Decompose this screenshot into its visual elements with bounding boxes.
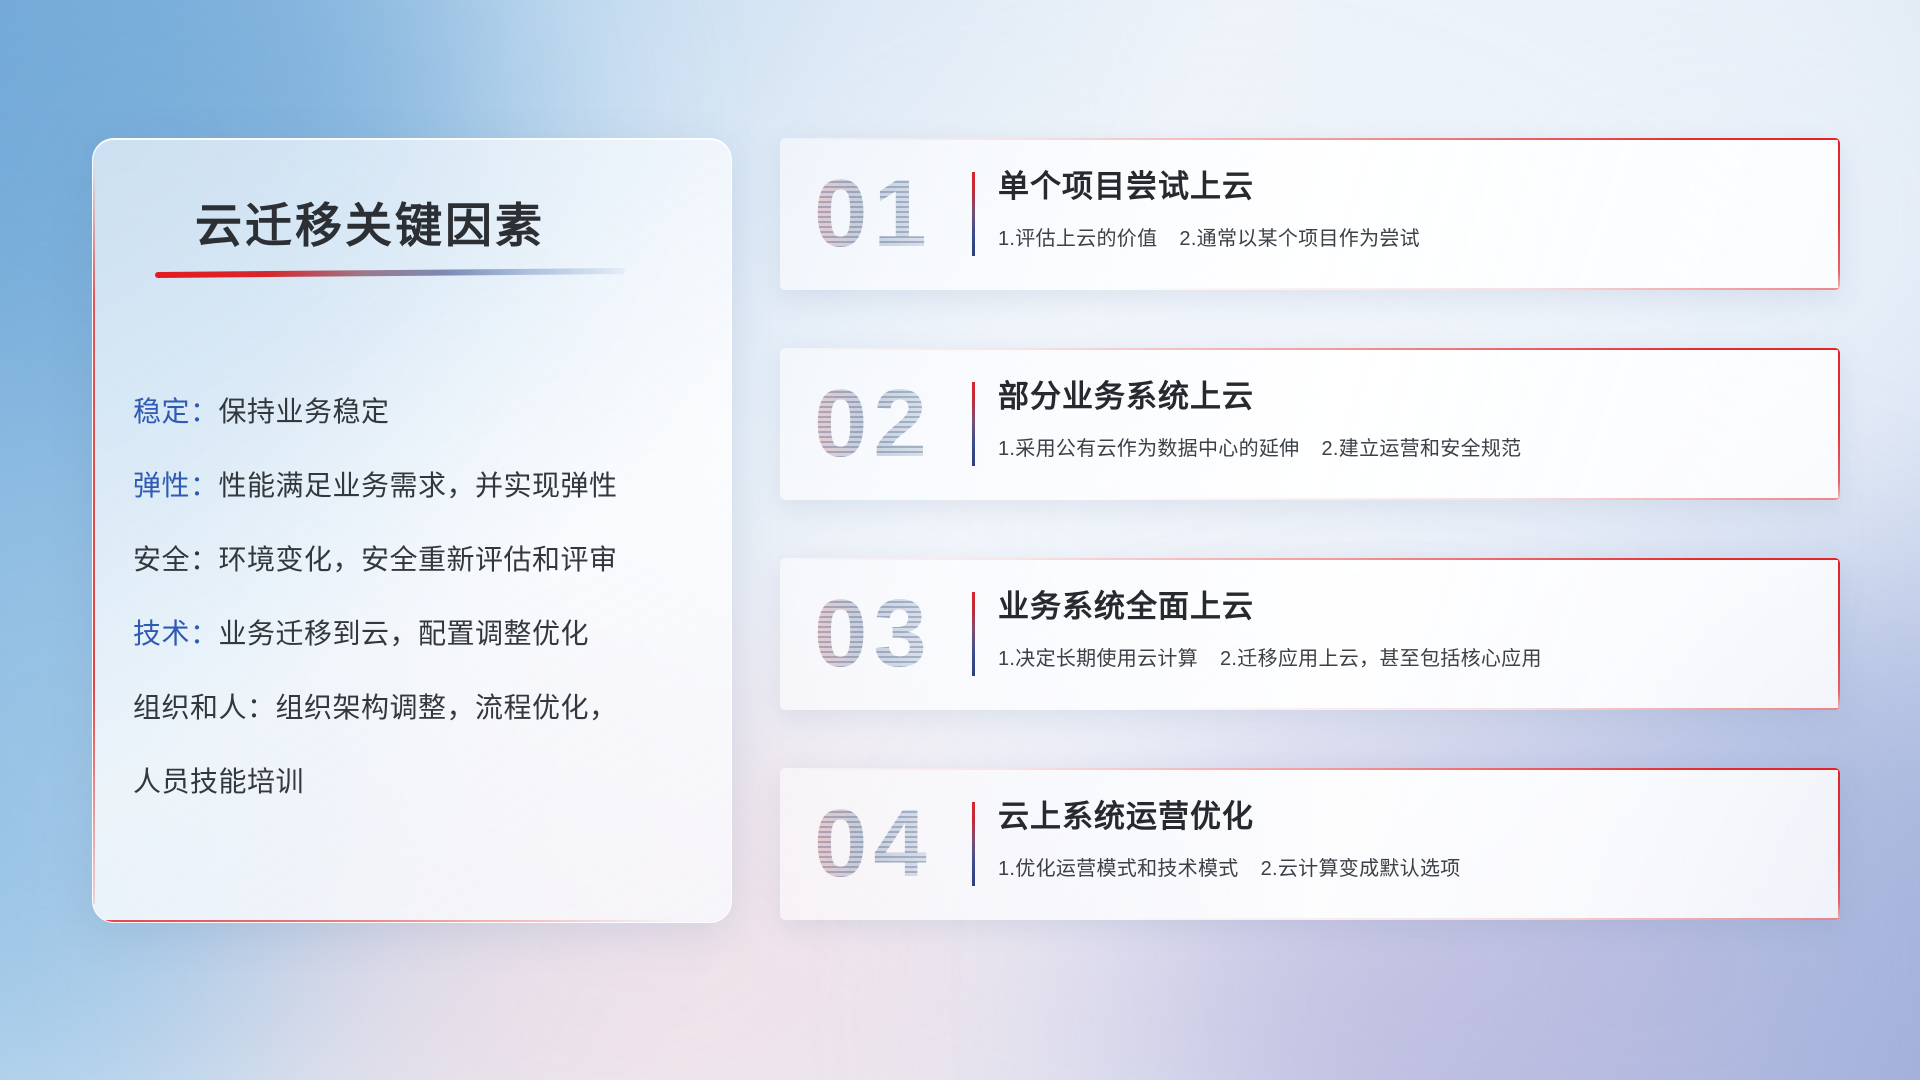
stage-title: 业务系统全面上云	[998, 586, 1814, 628]
factor-text: 保持业务稳定	[219, 396, 390, 427]
factor-item-technology: 技术：业务迁移到云，配置调整优化	[133, 597, 705, 671]
page-title: 云迁移关键因素	[195, 187, 545, 256]
card-body: 业务系统全面上云 1.决定长期使用云计算2.迁移应用上云，甚至包括核心应用	[998, 586, 1814, 671]
card-top-accent-line	[780, 348, 1840, 350]
factor-text: 性能满足业务需求，并实现弹性	[219, 470, 618, 501]
stage-card-04[interactable]: 04 云上系统运营优化 1.优化运营模式和技术模式2.云计算变成默认选项	[780, 768, 1840, 920]
stage-card-03[interactable]: 03 业务系统全面上云 1.决定长期使用云计算2.迁移应用上云，甚至包括核心应用	[780, 558, 1840, 710]
stage-point-1: 1.评估上云的价值	[998, 228, 1157, 250]
stage-point-2: 2.建立运营和安全规范	[1321, 438, 1521, 460]
card-bottom-accent-line	[780, 498, 1840, 500]
card-divider-bar	[972, 802, 975, 886]
card-right-accent-line	[1838, 558, 1840, 710]
factor-item-stability: 稳定：保持业务稳定	[133, 375, 705, 449]
factor-text: 业务迁移到云，配置调整优化	[219, 618, 590, 649]
card-right-accent-line	[1838, 768, 1840, 920]
card-body: 云上系统运营优化 1.优化运营模式和技术模式2.云计算变成默认选项	[998, 796, 1814, 881]
stage-points: 1.评估上云的价值2.通常以某个项目作为尝试	[998, 222, 1814, 251]
stage-point-2: 2.迁移应用上云，甚至包括核心应用	[1220, 648, 1542, 670]
stage-point-2: 2.通常以某个项目作为尝试	[1179, 228, 1420, 250]
card-divider-bar	[972, 172, 975, 256]
card-bottom-accent-line	[780, 918, 1840, 920]
card-bottom-accent-line	[780, 708, 1840, 710]
stage-points: 1.决定长期使用云计算2.迁移应用上云，甚至包括核心应用	[998, 642, 1814, 671]
stage-card-01[interactable]: 01 单个项目尝试上云 1.评估上云的价值2.通常以某个项目作为尝试	[780, 138, 1840, 290]
factor-item-security: 安全：环境变化，安全重新评估和评审	[133, 523, 705, 597]
key-factors-panel: 云迁移关键因素 稳定：保持业务稳定 弹性：性能满足业务需求，并实现弹性 安全：环…	[92, 138, 732, 923]
stage-title: 单个项目尝试上云	[998, 166, 1814, 208]
card-top-accent-line	[780, 558, 1840, 560]
card-divider-bar	[972, 592, 975, 676]
stage-card-02[interactable]: 02 部分业务系统上云 1.采用公有云作为数据中心的延伸2.建立运营和安全规范	[780, 348, 1840, 500]
card-top-accent-line	[780, 138, 1840, 140]
stage-points: 1.优化运营模式和技术模式2.云计算变成默认选项	[998, 852, 1814, 881]
stage-point-1: 1.决定长期使用云计算	[998, 648, 1198, 670]
card-body: 部分业务系统上云 1.采用公有云作为数据中心的延伸2.建立运营和安全规范	[998, 376, 1814, 461]
stage-point-1: 1.优化运营模式和技术模式	[998, 858, 1239, 880]
migration-stage-cards: 01 单个项目尝试上云 1.评估上云的价值2.通常以某个项目作为尝试 02 部分…	[780, 138, 1840, 978]
stage-title: 云上系统运营优化	[998, 796, 1814, 838]
card-body: 单个项目尝试上云 1.评估上云的价值2.通常以某个项目作为尝试	[998, 166, 1814, 251]
factor-label: 组织和人：	[133, 692, 276, 723]
stage-number-watermark: 03	[814, 586, 933, 682]
factor-text: 组织架构调整，流程优化，	[276, 692, 618, 723]
factor-list: 稳定：保持业务稳定 弹性：性能满足业务需求，并实现弹性 安全：环境变化，安全重新…	[133, 375, 705, 819]
stage-title: 部分业务系统上云	[998, 376, 1814, 418]
factor-item-organization-cont: 人员技能培训	[133, 745, 705, 819]
factor-text: 环境变化，安全重新评估和评审	[219, 544, 618, 575]
factor-text: 人员技能培训	[133, 766, 304, 797]
factor-label: 稳定：	[133, 396, 219, 427]
stage-number-watermark: 01	[814, 166, 933, 262]
stage-number-watermark: 04	[814, 796, 933, 892]
factor-label: 安全：	[133, 544, 219, 575]
slide-root: 云迁移关键因素 稳定：保持业务稳定 弹性：性能满足业务需求，并实现弹性 安全：环…	[0, 0, 1920, 1080]
card-right-accent-line	[1838, 348, 1840, 500]
card-right-accent-line	[1838, 138, 1840, 290]
title-underline-rule	[155, 268, 625, 278]
stage-point-2: 2.云计算变成默认选项	[1261, 858, 1461, 880]
factor-item-organization: 组织和人：组织架构调整，流程优化，	[133, 671, 705, 745]
factor-item-elasticity: 弹性：性能满足业务需求，并实现弹性	[133, 449, 705, 523]
factor-label: 弹性：	[133, 470, 219, 501]
card-divider-bar	[972, 382, 975, 466]
stage-points: 1.采用公有云作为数据中心的延伸2.建立运营和安全规范	[998, 432, 1814, 461]
factor-label: 技术：	[133, 618, 219, 649]
stage-point-1: 1.采用公有云作为数据中心的延伸	[998, 438, 1299, 460]
stage-number-watermark: 02	[814, 376, 933, 472]
card-bottom-accent-line	[780, 288, 1840, 290]
card-top-accent-line	[780, 768, 1840, 770]
